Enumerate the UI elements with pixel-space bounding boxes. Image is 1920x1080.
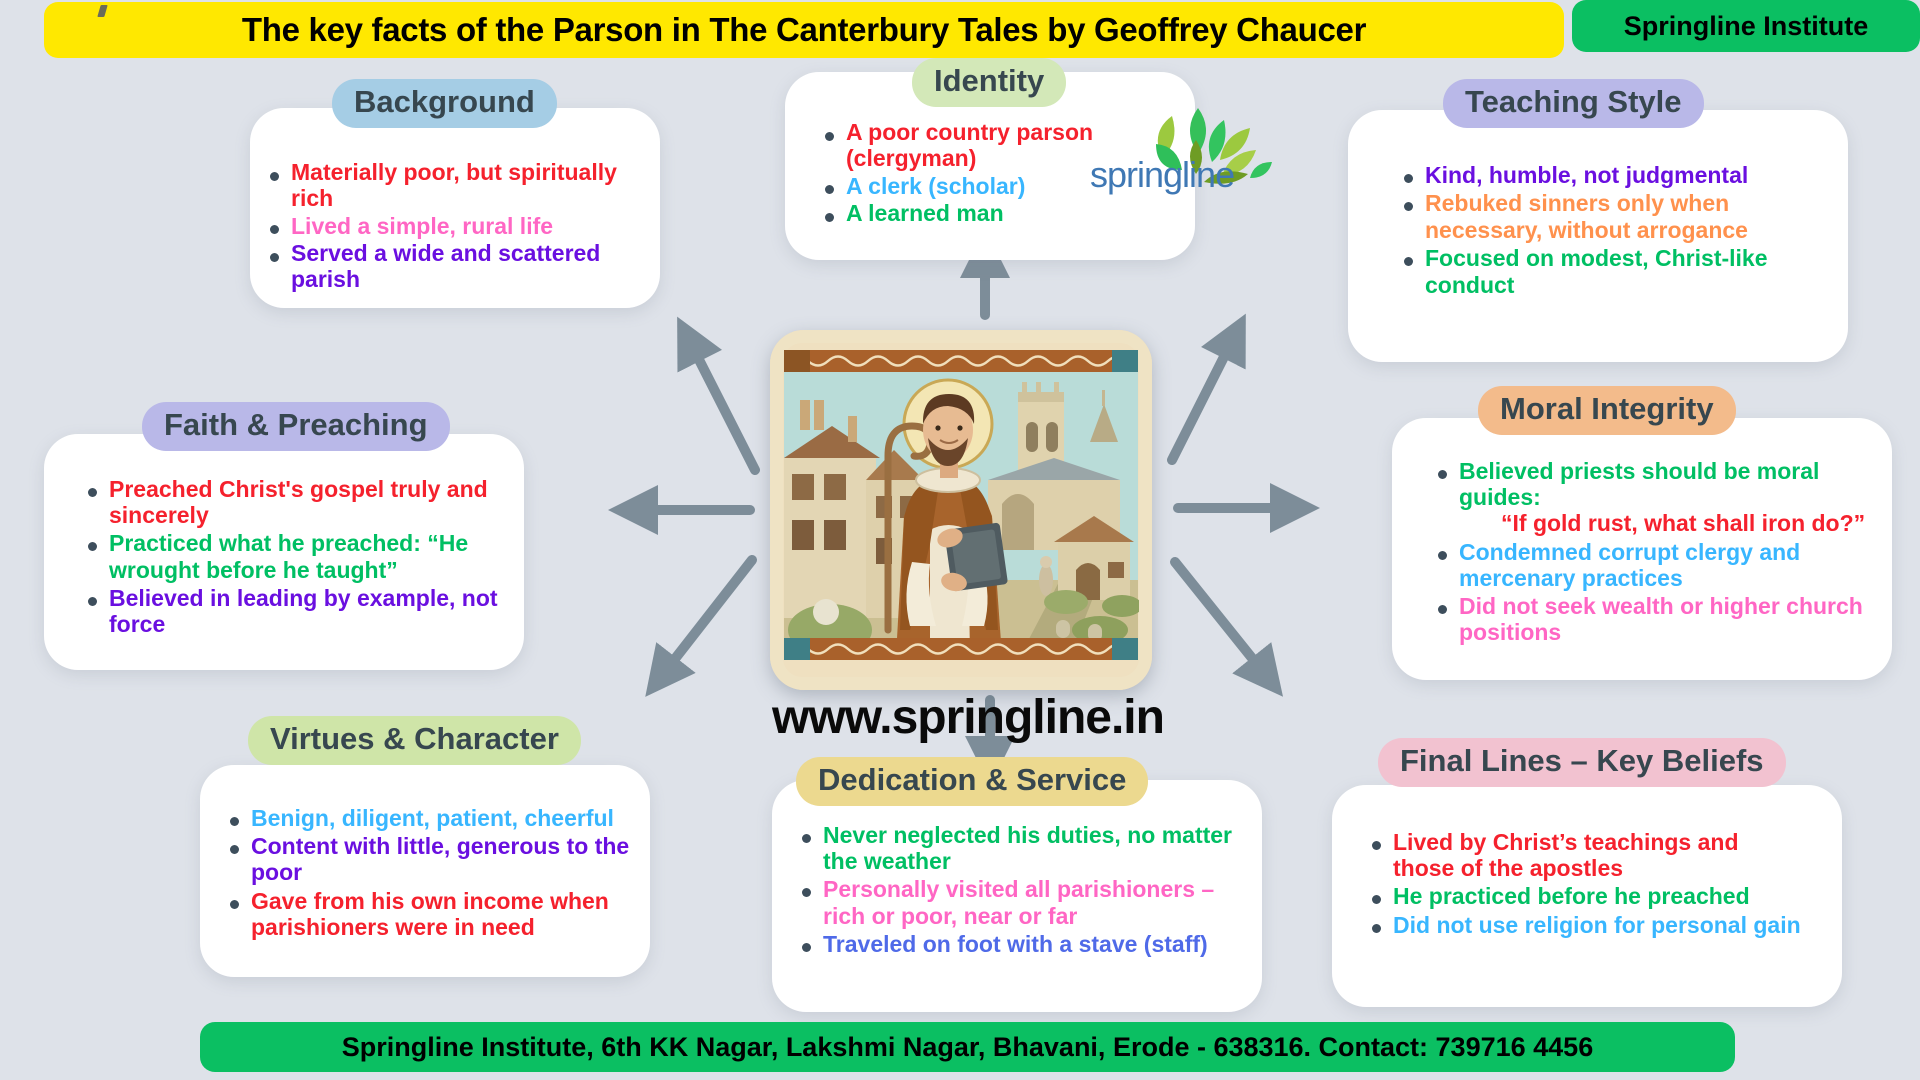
list-item: Served a wide and scattered parish (264, 241, 636, 293)
card-faith-preaching-list: Preached Christ's gospel truly and since… (44, 434, 524, 637)
footer-banner: Springline Institute, 6th KK Nagar, Laks… (200, 1022, 1735, 1072)
header-bar: The key facts of the Parson in The Cante… (0, 0, 1920, 62)
list-item: Never neglected his duties, no matter th… (796, 822, 1244, 874)
page-title: The key facts of the Parson in The Cante… (242, 11, 1366, 49)
card-virtues-character: Benign, diligent, patient, cheerful Cont… (200, 765, 650, 977)
card-teaching-style-list: Kind, humble, not judgmental Rebuked sin… (1348, 110, 1848, 298)
list-item-subtext: “If gold rust, what shall iron do?” (1459, 510, 1874, 536)
list-item: Lived by Christ’s teachings and those of… (1366, 829, 1802, 881)
website-url: www.springline.in (718, 690, 1218, 745)
list-item: Focused on modest, Christ-like conduct (1398, 245, 1822, 298)
card-background-title: Background (332, 79, 557, 128)
title-banner: The key facts of the Parson in The Cante… (44, 2, 1564, 58)
list-item: Benign, diligent, patient, cheerful (224, 805, 636, 831)
card-dedication-service-list: Never neglected his duties, no matter th… (772, 780, 1262, 957)
card-moral-integrity-list: Believed priests should be moral guides:… (1392, 418, 1892, 646)
card-dedication-service-title: Dedication & Service (796, 757, 1148, 806)
card-final-lines-title: Final Lines – Key Beliefs (1378, 738, 1786, 787)
list-item: Kind, humble, not judgmental (1398, 162, 1822, 188)
list-item: Practiced what he preached: “He wrought … (82, 530, 502, 582)
springline-logo: springline (1090, 100, 1350, 200)
list-item: Did not use religion for personal gain (1366, 912, 1802, 938)
list-item: Preached Christ's gospel truly and since… (82, 476, 502, 528)
list-item: A learned man (819, 201, 1171, 227)
card-identity-title: Identity (912, 58, 1066, 107)
card-teaching-style: Kind, humble, not judgmental Rebuked sin… (1348, 110, 1848, 362)
list-item: Condemned corrupt clergy and mercenary p… (1432, 539, 1874, 591)
list-item: Materially poor, but spiritually rich (264, 160, 636, 212)
footer-contact-text: Springline Institute, 6th KK Nagar, Laks… (342, 1032, 1593, 1063)
arrow-to-background (688, 338, 755, 470)
list-item: Lived a simple, rural life (264, 214, 636, 240)
card-faith-preaching: Preached Christ's gospel truly and since… (44, 434, 524, 670)
list-item: Gave from his own income when parishione… (224, 888, 636, 940)
arrow-to-virtues (660, 560, 752, 678)
list-item: Content with little, generous to the poo… (224, 833, 636, 885)
brand-name: Springline Institute (1624, 11, 1869, 42)
card-moral-integrity-title: Moral Integrity (1478, 386, 1736, 435)
card-moral-integrity: Believed priests should be moral guides:… (1392, 418, 1892, 680)
list-item-text: Believed priests should be moral guides: (1459, 458, 1819, 510)
list-item: Believed in leading by example, not forc… (82, 585, 502, 637)
card-virtues-character-title: Virtues & Character (248, 716, 581, 765)
brand-banner: Springline Institute (1572, 0, 1920, 52)
card-faith-preaching-title: Faith & Preaching (142, 402, 450, 451)
card-teaching-style-title: Teaching Style (1443, 79, 1704, 128)
card-virtues-character-list: Benign, diligent, patient, cheerful Cont… (200, 765, 650, 940)
list-item: Did not seek wealth or higher church pos… (1432, 593, 1874, 645)
card-final-lines: Lived by Christ’s teachings and those of… (1332, 785, 1842, 1007)
parson-illustration (770, 330, 1152, 690)
list-item: Believed priests should be moral guides:… (1432, 458, 1874, 537)
list-item: Personally visited all parishioners – ri… (796, 876, 1244, 928)
logo-wordmark: springline (1090, 154, 1234, 196)
arrow-to-teaching-style (1172, 335, 1235, 460)
card-final-lines-list: Lived by Christ’s teachings and those of… (1332, 785, 1842, 938)
card-background: Materially poor, but spiritually rich Li… (250, 108, 660, 308)
list-item: Traveled on foot with a stave (staff) (796, 931, 1244, 957)
title-tick-mark (97, 5, 107, 17)
card-dedication-service: Never neglected his duties, no matter th… (772, 780, 1262, 1012)
card-background-list: Materially poor, but spiritually rich Li… (250, 108, 660, 293)
arrow-to-final-lines (1175, 562, 1268, 678)
list-item: Rebuked sinners only when necessary, wit… (1398, 190, 1822, 243)
list-item: He practiced before he preached (1366, 883, 1802, 909)
